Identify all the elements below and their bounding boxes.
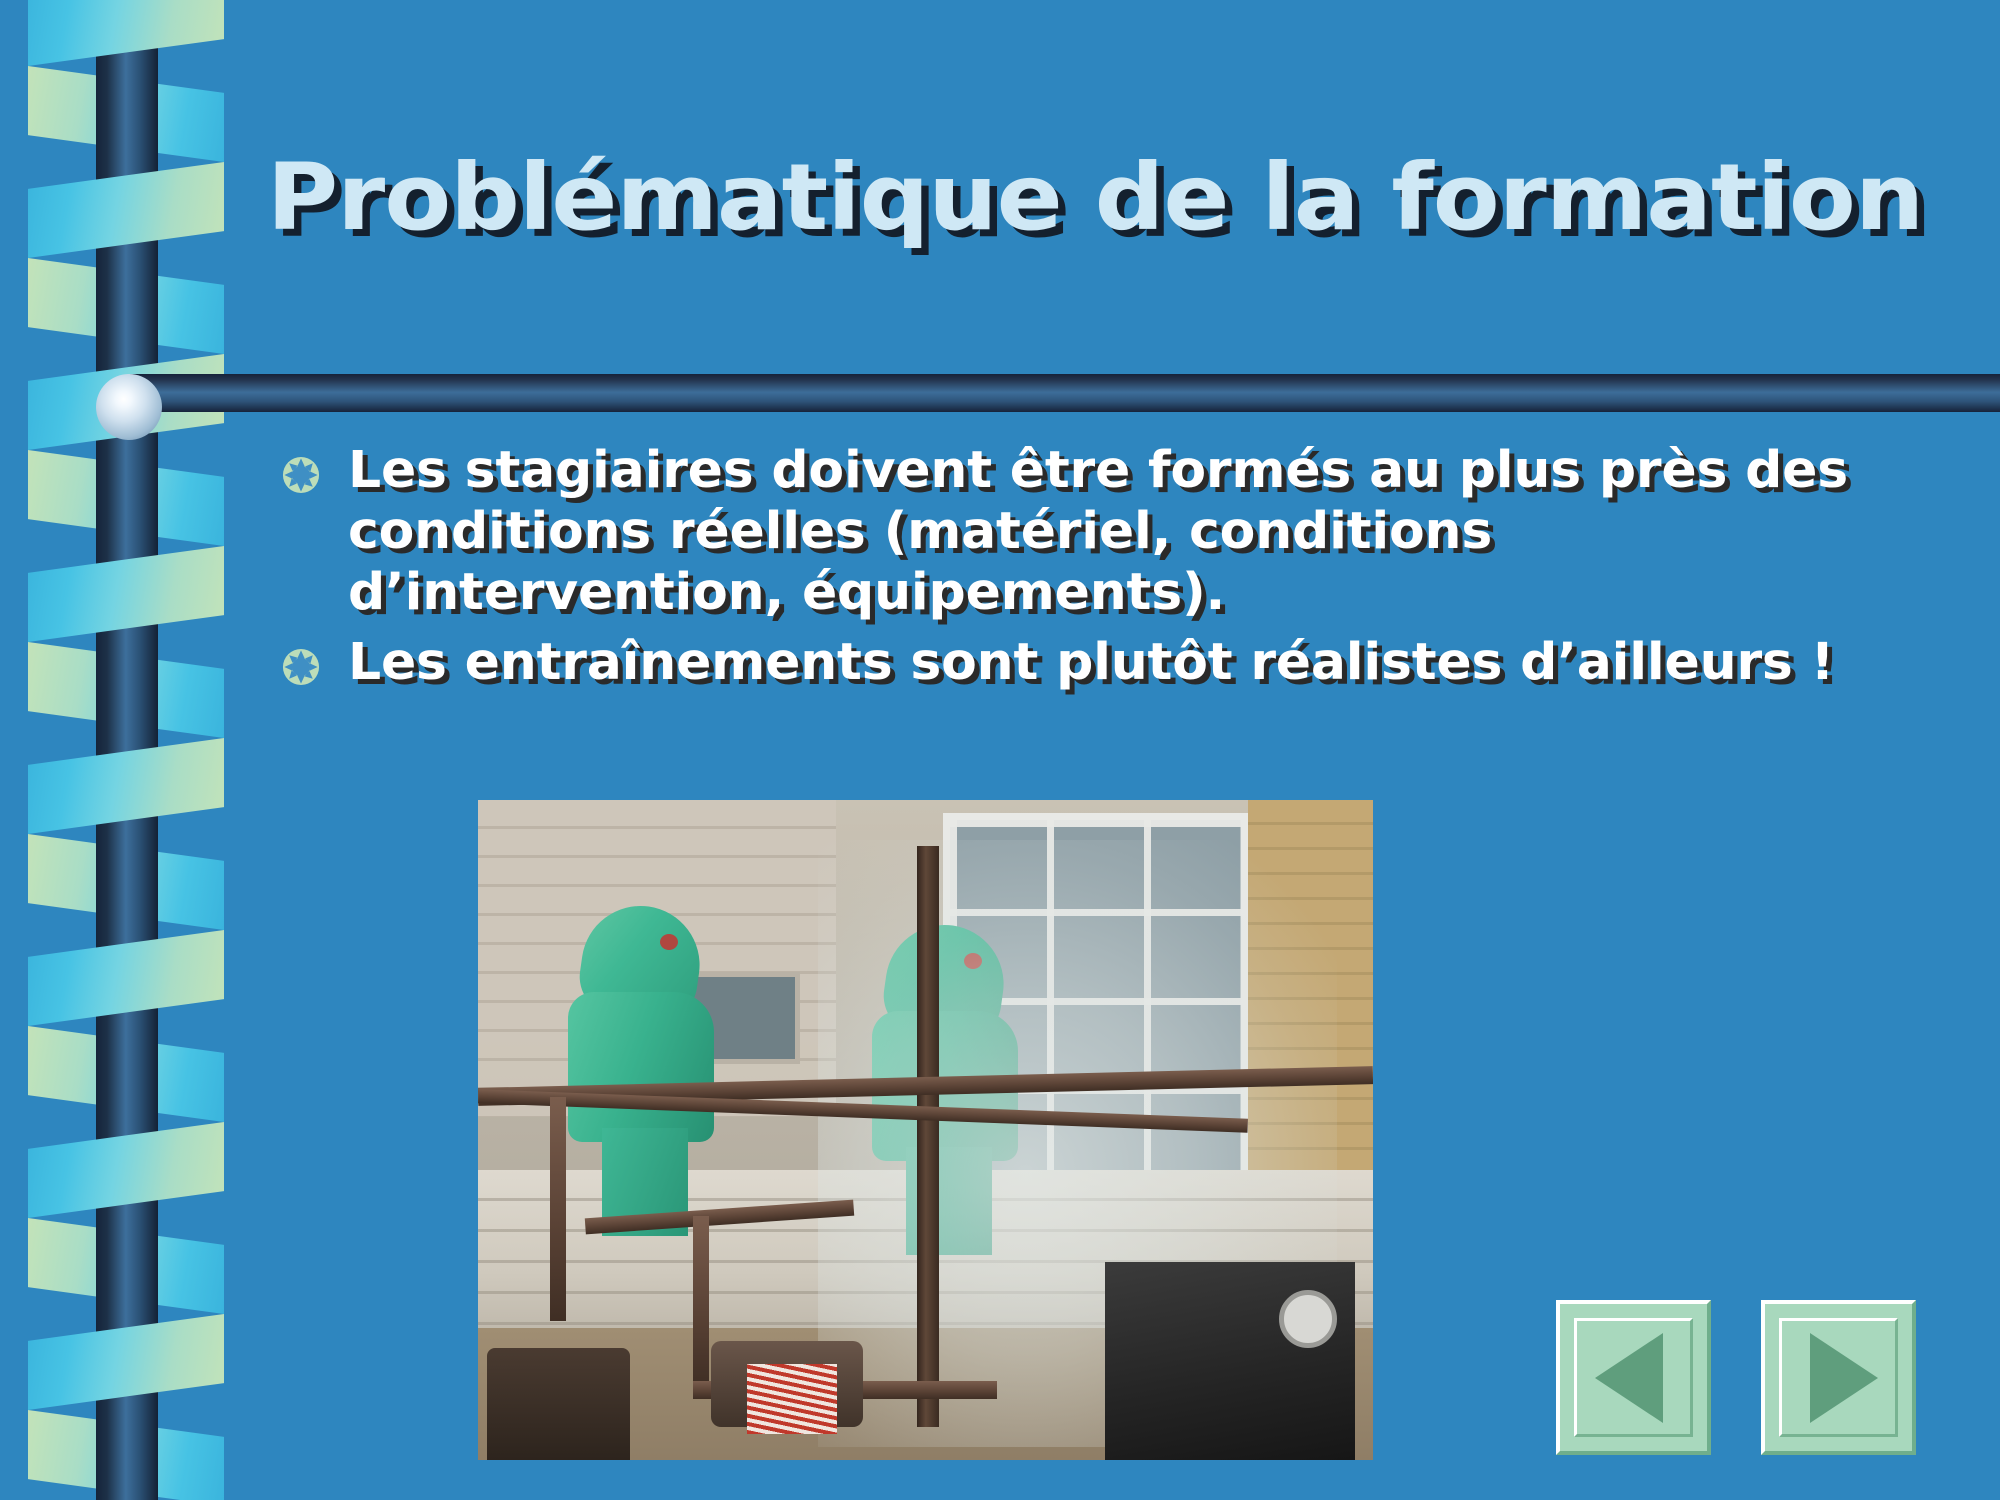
ribbon-band (28, 930, 224, 1026)
list-item-label: Les entraînements sont plutôt réalistes … (348, 632, 1933, 693)
sun-bullet-icon (282, 648, 320, 686)
hazmat-worker (568, 906, 718, 1236)
list-item: Les stagiaires doivent être formés au pl… (282, 440, 1902, 624)
slide-photo (478, 800, 1373, 1460)
glossy-sphere-accent (96, 374, 162, 440)
title-divider-bar (130, 374, 2000, 412)
previous-slide-button[interactable] (1556, 1300, 1711, 1455)
ribbon-band (28, 1314, 224, 1410)
list-item: Les entraînements sont plutôt réalistes … (282, 632, 1902, 693)
photo-canvas (478, 800, 1373, 1460)
ribbon-band (28, 546, 224, 642)
page-title: Problématique de la formation (173, 152, 2000, 244)
ribbon-band (28, 1122, 224, 1218)
presentation-slide: Problématique de la formation (0, 0, 2000, 1500)
bullet-list: Les stagiaires doivent être formés au pl… (282, 440, 1902, 701)
triangle-left-icon (1595, 1333, 1663, 1423)
slide-navigation (1556, 1300, 1916, 1455)
triangle-right-icon (1810, 1333, 1878, 1423)
ribbon-band (28, 0, 224, 66)
sun-bullet-icon (282, 456, 320, 494)
next-slide-button[interactable] (1761, 1300, 1916, 1455)
ribbon-band (28, 738, 224, 834)
list-item-label: Les stagiaires doivent être formés au pl… (348, 440, 1933, 624)
